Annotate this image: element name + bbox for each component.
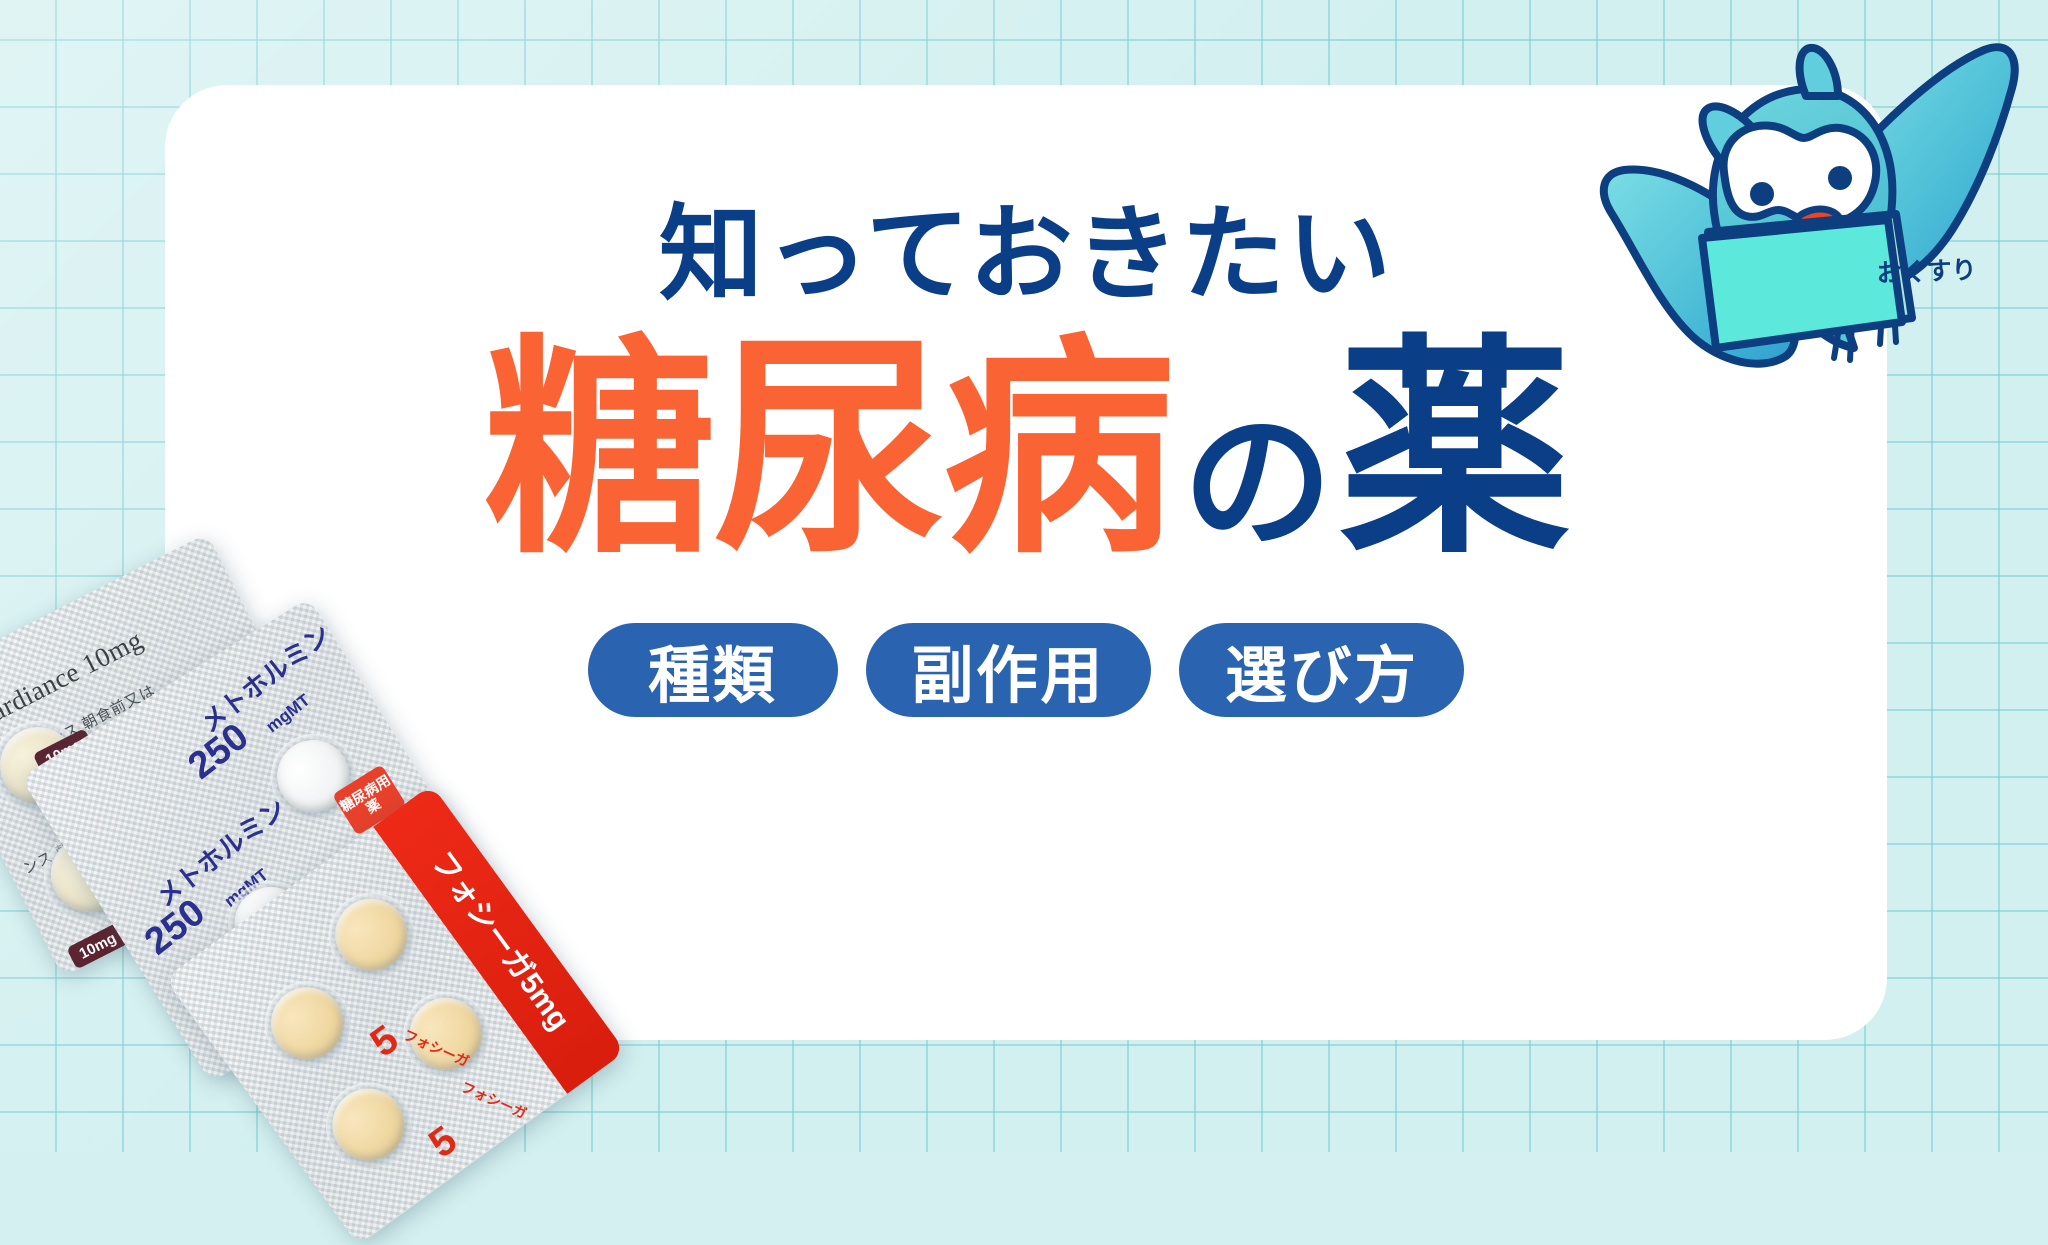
hero-title-medicine: 薬 (1339, 335, 1569, 567)
badge-how-to-choose[interactable]: 選び方 (1179, 623, 1464, 717)
topic-badge-list: 種類 副作用 選び方 (588, 623, 1465, 717)
hero-title: 糖尿病 の 薬 (484, 335, 1569, 567)
owl-face-mask (1724, 125, 1877, 224)
hero-title-disease: 糖尿病 (484, 335, 1173, 567)
owl-ear-tuft-right (1800, 48, 1838, 96)
hero-title-particle: の (1173, 407, 1339, 567)
owl-eye-left (1750, 182, 1774, 206)
hero-subtitle: 知っておきたい (659, 203, 1393, 307)
owl-mascot: おくすり (1596, 26, 2046, 386)
badge-side-effects[interactable]: 副作用 (866, 623, 1151, 717)
medicine-box (1702, 214, 1912, 348)
owl-eye-right (1828, 166, 1852, 190)
badge-types[interactable]: 種類 (588, 623, 838, 717)
